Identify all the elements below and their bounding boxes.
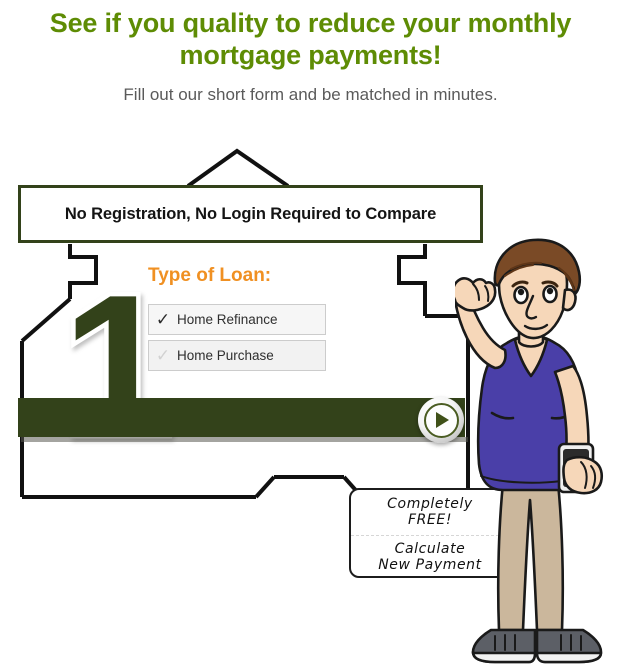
landing-page: See if you quality to reduce your monthl…	[0, 0, 621, 671]
loan-option-home-refinance[interactable]: ✓ Home Refinance	[148, 304, 326, 335]
cartoon-man-pointing-illustration	[455, 238, 621, 671]
callout-free: FREE!	[408, 513, 452, 529]
right-zigzag-upper	[399, 244, 425, 316]
check-icon: ✓	[149, 311, 177, 328]
roof-peak-line	[188, 151, 288, 186]
play-arrow-icon	[424, 403, 459, 438]
loan-option-home-purchase[interactable]: ✓ Home Purchase	[148, 340, 326, 371]
bottom-left-diagonal	[256, 477, 274, 497]
banner-text: No Registration, No Login Required to Co…	[65, 205, 436, 224]
no-registration-banner: No Registration, No Login Required to Co…	[18, 185, 483, 243]
continue-bar[interactable]	[18, 398, 465, 437]
check-icon: ✓	[149, 347, 177, 364]
play-triangle	[436, 412, 449, 428]
type-of-loan-label: Type of Loan:	[148, 265, 271, 287]
loan-option-label: Home Refinance	[177, 312, 278, 327]
loan-option-label: Home Purchase	[177, 348, 274, 363]
